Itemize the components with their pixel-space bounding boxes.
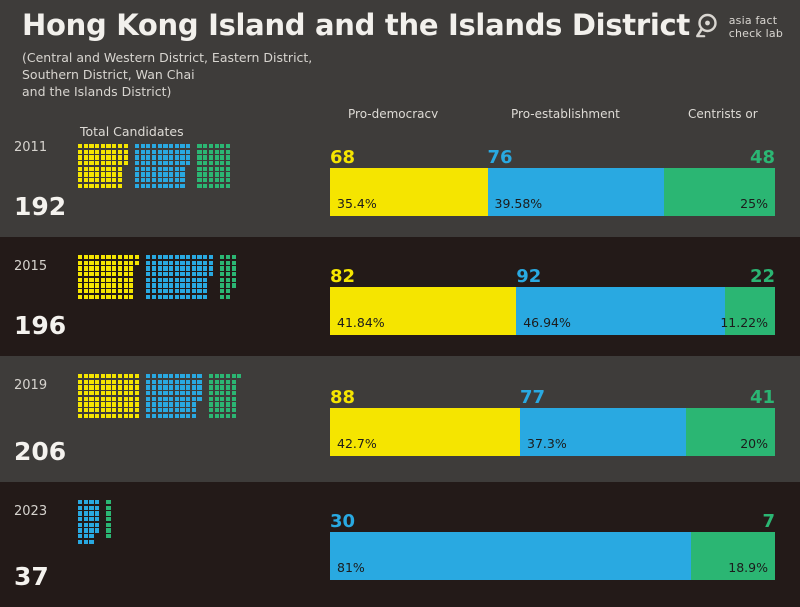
matrix-dot-spacer xyxy=(209,278,213,282)
bar-count-centrists: 41 xyxy=(750,387,775,408)
matrix-dot xyxy=(78,506,82,510)
matrix-dot xyxy=(158,155,162,159)
matrix-dot xyxy=(129,295,133,299)
matrix-dot-spacer xyxy=(186,184,190,188)
dot-matrix xyxy=(78,374,241,418)
matrix-dot xyxy=(169,380,173,384)
matrix-dot xyxy=(152,184,156,188)
matrix-dot-spacer xyxy=(135,283,139,287)
matrix-dot xyxy=(95,289,99,293)
matrix-dot xyxy=(95,266,99,270)
matrix-dot xyxy=(89,511,93,515)
matrix-dot xyxy=(146,172,150,176)
matrix-dot xyxy=(124,155,128,159)
matrix-dot-spacer xyxy=(95,540,99,544)
matrix-dot xyxy=(95,391,99,395)
matrix-dot xyxy=(209,272,213,276)
matrix-dot xyxy=(197,397,201,401)
matrix-dot xyxy=(84,289,88,293)
matrix-dot xyxy=(84,414,88,418)
matrix-dot xyxy=(163,402,167,406)
matrix-dot xyxy=(197,374,201,378)
election-row-2011: 2011192Total Candidates68764835.4%39.58%… xyxy=(0,118,800,237)
bar-value-labels: 307 xyxy=(330,510,775,532)
matrix-dot xyxy=(215,144,219,148)
matrix-dot xyxy=(180,414,184,418)
matrix-dot xyxy=(192,397,196,401)
matrix-dot xyxy=(101,402,105,406)
matrix-dot xyxy=(158,408,162,412)
matrix-dot xyxy=(95,161,99,165)
matrix-dot xyxy=(112,184,116,188)
matrix-dot xyxy=(220,295,224,299)
matrix-dot xyxy=(78,172,82,176)
bar-count-pro_establishment: 92 xyxy=(516,266,541,287)
matrix-dot xyxy=(118,391,122,395)
matrix-dot xyxy=(101,172,105,176)
matrix-dot xyxy=(192,278,196,282)
brand-logo: asia fact check lab xyxy=(696,12,783,42)
matrix-dot xyxy=(78,374,82,378)
matrix-dot xyxy=(78,161,82,165)
matrix-dot xyxy=(226,385,230,389)
matrix-dot xyxy=(89,161,93,165)
matrix-dot xyxy=(197,295,201,299)
bar-segment-centrists[interactable]: 18.9% xyxy=(691,532,775,580)
matrix-dot xyxy=(232,374,236,378)
matrix-dot xyxy=(106,184,110,188)
matrix-dot xyxy=(106,402,110,406)
matrix-dot xyxy=(129,397,133,401)
matrix-dot xyxy=(215,155,219,159)
matrix-dot xyxy=(232,261,236,265)
matrix-dot xyxy=(220,402,224,406)
stacked-bar: 42.7%37.3%20% xyxy=(330,408,775,456)
matrix-dot xyxy=(180,266,184,270)
matrix-dot xyxy=(220,144,224,148)
matrix-dot xyxy=(226,178,230,182)
matrix-dot-spacer xyxy=(135,272,139,276)
matrix-dot-spacer xyxy=(203,402,207,406)
matrix-dot xyxy=(135,184,139,188)
matrix-dot xyxy=(78,278,82,282)
matrix-dot xyxy=(175,380,179,384)
matrix-dot xyxy=(101,261,105,265)
matrix-dot xyxy=(84,380,88,384)
matrix-dot xyxy=(163,380,167,384)
matrix-dot-spacer xyxy=(141,374,145,378)
matrix-dot xyxy=(226,155,230,159)
matrix-dot xyxy=(152,178,156,182)
matrix-dot xyxy=(186,144,190,148)
matrix-dot xyxy=(78,528,82,532)
matrix-dot xyxy=(146,283,150,287)
matrix-dot xyxy=(84,255,88,259)
bar-count-pro_democracy: 82 xyxy=(330,266,355,287)
matrix-dot xyxy=(180,289,184,293)
stacked-bar: 81%18.9% xyxy=(330,532,775,580)
matrix-dot xyxy=(203,161,207,165)
matrix-dot xyxy=(197,161,201,165)
matrix-dot xyxy=(106,414,110,418)
matrix-dot xyxy=(220,278,224,282)
matrix-dot xyxy=(163,178,167,182)
matrix-dot xyxy=(180,283,184,287)
matrix-dot xyxy=(203,272,207,276)
matrix-dot xyxy=(186,161,190,165)
matrix-dot xyxy=(197,172,201,176)
matrix-dot xyxy=(169,261,173,265)
matrix-dot xyxy=(192,408,196,412)
matrix-dot xyxy=(101,184,105,188)
matrix-dot xyxy=(106,167,110,171)
matrix-dot xyxy=(180,155,184,159)
matrix-dot xyxy=(112,255,116,259)
matrix-dot xyxy=(135,155,139,159)
matrix-dot xyxy=(180,255,184,259)
matrix-dot-spacer xyxy=(129,184,133,188)
matrix-dot-spacer xyxy=(192,167,196,171)
bar-segment-pro_democracy[interactable]: 42.7% xyxy=(330,408,520,456)
matrix-dot xyxy=(146,144,150,148)
matrix-dot xyxy=(112,408,116,412)
matrix-dot xyxy=(215,167,219,171)
bar-count-centrists: 7 xyxy=(762,511,775,532)
matrix-dot xyxy=(129,272,133,276)
matrix-dot xyxy=(186,391,190,395)
matrix-dot xyxy=(226,283,230,287)
bar-segment-pro_establishment[interactable]: 81% xyxy=(330,532,691,580)
matrix-dot xyxy=(158,380,162,384)
matrix-dot xyxy=(106,266,110,270)
matrix-dot xyxy=(158,178,162,182)
matrix-dot xyxy=(124,385,128,389)
matrix-dot xyxy=(124,272,128,276)
matrix-dot xyxy=(89,178,93,182)
matrix-dot xyxy=(152,380,156,384)
matrix-dot xyxy=(112,266,116,270)
matrix-dot xyxy=(118,283,122,287)
matrix-dot xyxy=(89,172,93,176)
matrix-dot xyxy=(169,172,173,176)
matrix-dot-spacer xyxy=(192,155,196,159)
bar-count-pro_establishment: 76 xyxy=(488,147,513,168)
matrix-dot xyxy=(226,414,230,418)
bar-percent-pro_establishment: 46.94% xyxy=(523,315,571,330)
matrix-dot xyxy=(101,283,105,287)
matrix-dot-spacer xyxy=(141,402,145,406)
bar-segment-pro_democracy[interactable]: 41.84% xyxy=(330,287,516,335)
matrix-dot xyxy=(78,380,82,384)
matrix-dot xyxy=(95,500,99,504)
matrix-dot xyxy=(89,150,93,154)
matrix-dot xyxy=(84,172,88,176)
matrix-dot xyxy=(169,272,173,276)
matrix-dot xyxy=(101,408,105,412)
matrix-dot xyxy=(186,289,190,293)
matrix-dot xyxy=(141,161,145,165)
matrix-dot xyxy=(89,397,93,401)
matrix-dot xyxy=(106,528,110,532)
matrix-dot xyxy=(232,283,236,287)
matrix-dot xyxy=(112,167,116,171)
matrix-dot xyxy=(78,261,82,265)
matrix-dot xyxy=(84,155,88,159)
matrix-dot xyxy=(209,266,213,270)
matrix-dot xyxy=(169,283,173,287)
matrix-dot xyxy=(89,283,93,287)
dot-matrix xyxy=(78,255,236,299)
matrix-dot-spacer xyxy=(141,255,145,259)
matrix-dot xyxy=(220,266,224,270)
matrix-dot xyxy=(169,289,173,293)
matrix-dot xyxy=(203,167,207,171)
matrix-dot xyxy=(89,278,93,282)
matrix-dot-spacer xyxy=(141,266,145,270)
matrix-dot xyxy=(180,272,184,276)
matrix-dot xyxy=(101,397,105,401)
matrix-dot xyxy=(163,278,167,282)
matrix-dot xyxy=(186,380,190,384)
matrix-dot xyxy=(84,523,88,527)
matrix-dot-spacer xyxy=(192,161,196,165)
matrix-dot-spacer xyxy=(203,391,207,395)
matrix-dot xyxy=(226,167,230,171)
matrix-dot xyxy=(220,172,224,176)
matrix-dot xyxy=(163,289,167,293)
matrix-dot xyxy=(118,278,122,282)
matrix-dot xyxy=(169,374,173,378)
matrix-dot xyxy=(106,255,110,259)
matrix-dot xyxy=(197,289,201,293)
matrix-dot xyxy=(95,385,99,389)
matrix-dot-spacer xyxy=(124,184,128,188)
matrix-dot xyxy=(78,517,82,521)
matrix-dot xyxy=(118,266,122,270)
matrix-dot xyxy=(135,172,139,176)
matrix-dot xyxy=(152,172,156,176)
matrix-dot xyxy=(220,261,224,265)
matrix-dot xyxy=(95,511,99,515)
matrix-dot-spacer xyxy=(135,295,139,299)
matrix-dot xyxy=(209,150,213,154)
matrix-dot xyxy=(89,266,93,270)
matrix-dot xyxy=(118,408,122,412)
matrix-dot xyxy=(158,255,162,259)
matrix-dot xyxy=(95,408,99,412)
matrix-dot xyxy=(209,380,213,384)
matrix-dot xyxy=(175,289,179,293)
matrix-dot xyxy=(175,397,179,401)
matrix-dot-spacer xyxy=(141,261,145,265)
matrix-dot xyxy=(226,150,230,154)
row-year-label: 2015 xyxy=(14,259,47,274)
matrix-dot xyxy=(192,283,196,287)
bar-percent-pro_establishment: 39.58% xyxy=(495,196,543,211)
matrix-dot xyxy=(118,414,122,418)
matrix-dot xyxy=(215,380,219,384)
matrix-dot xyxy=(215,397,219,401)
bar-percent-centrists: 25% xyxy=(740,196,768,211)
matrix-dot xyxy=(163,283,167,287)
matrix-dot xyxy=(163,144,167,148)
bar-segment-pro_establishment[interactable]: 39.58% xyxy=(488,168,664,216)
matrix-dot xyxy=(152,150,156,154)
matrix-dot-spacer xyxy=(141,391,145,395)
matrix-dot xyxy=(124,397,128,401)
matrix-dot xyxy=(84,408,88,412)
matrix-dot xyxy=(106,283,110,287)
matrix-dot xyxy=(84,161,88,165)
matrix-dot xyxy=(197,266,201,270)
matrix-dot xyxy=(175,295,179,299)
matrix-dot xyxy=(163,184,167,188)
matrix-dot xyxy=(135,385,139,389)
bar-segment-pro_establishment[interactable]: 37.3% xyxy=(520,408,686,456)
matrix-dot xyxy=(89,391,93,395)
matrix-dot xyxy=(106,150,110,154)
matrix-dot xyxy=(203,283,207,287)
matrix-dot xyxy=(106,155,110,159)
stacked-bar-block: 68764835.4%39.58%25% xyxy=(330,146,775,216)
matrix-dot xyxy=(146,397,150,401)
bar-segment-pro_democracy[interactable]: 35.4% xyxy=(330,168,488,216)
matrix-dot xyxy=(84,167,88,171)
matrix-dot xyxy=(129,255,133,259)
matrix-dot xyxy=(220,184,224,188)
matrix-dot xyxy=(175,283,179,287)
matrix-dot xyxy=(146,150,150,154)
matrix-dot xyxy=(106,500,110,504)
matrix-dot xyxy=(226,397,230,401)
bar-segment-centrists[interactable]: 25% xyxy=(664,168,775,216)
matrix-dot xyxy=(78,255,82,259)
matrix-dot xyxy=(152,283,156,287)
matrix-dot-spacer xyxy=(215,266,219,270)
matrix-dot xyxy=(203,150,207,154)
matrix-dot xyxy=(89,144,93,148)
matrix-dot xyxy=(135,402,139,406)
matrix-dot xyxy=(89,272,93,276)
matrix-dot xyxy=(89,155,93,159)
matrix-dot xyxy=(101,255,105,259)
matrix-dot xyxy=(106,506,110,510)
bar-percent-pro_establishment: 37.3% xyxy=(527,436,567,451)
matrix-dot xyxy=(146,167,150,171)
matrix-dot xyxy=(175,167,179,171)
matrix-dot xyxy=(169,266,173,270)
bar-count-pro_democracy: 68 xyxy=(330,147,355,168)
matrix-dot xyxy=(129,283,133,287)
matrix-dot xyxy=(95,167,99,171)
matrix-dot xyxy=(209,397,213,401)
matrix-dot-spacer xyxy=(186,167,190,171)
matrix-dot xyxy=(84,266,88,270)
matrix-dot xyxy=(192,391,196,395)
matrix-dot xyxy=(163,397,167,401)
matrix-dot xyxy=(106,261,110,265)
matrix-dot-spacer xyxy=(209,295,213,299)
matrix-dot-spacer xyxy=(141,397,145,401)
matrix-dot xyxy=(226,278,230,282)
page-subtitle: (Central and Western District, Eastern D… xyxy=(22,49,312,100)
matrix-dot-spacer xyxy=(129,144,133,148)
matrix-dot xyxy=(101,161,105,165)
matrix-dot xyxy=(175,402,179,406)
matrix-dot xyxy=(95,295,99,299)
matrix-dot xyxy=(118,397,122,401)
bar-segment-pro_establishment[interactable]: 46.94% xyxy=(516,287,725,335)
matrix-dot xyxy=(180,261,184,265)
matrix-dot-spacer xyxy=(197,402,201,406)
matrix-dot xyxy=(197,283,201,287)
matrix-dot xyxy=(163,408,167,412)
bar-value-labels: 687648 xyxy=(330,146,775,168)
matrix-dot xyxy=(220,167,224,171)
matrix-dot xyxy=(152,295,156,299)
matrix-dot xyxy=(209,184,213,188)
matrix-dot xyxy=(180,391,184,395)
matrix-dot xyxy=(84,506,88,510)
matrix-dot xyxy=(135,255,139,259)
matrix-dot xyxy=(169,414,173,418)
matrix-dot xyxy=(220,155,224,159)
matrix-dot-spacer xyxy=(101,540,105,544)
matrix-dot-spacer xyxy=(124,172,128,176)
matrix-dot xyxy=(226,380,230,384)
matrix-dot xyxy=(146,278,150,282)
matrix-dot xyxy=(175,184,179,188)
page-title: Hong Kong Island and the Islands Distric… xyxy=(22,8,690,42)
matrix-dot xyxy=(106,391,110,395)
bar-segment-centrists[interactable]: 11.22% xyxy=(725,287,775,335)
matrix-dot xyxy=(78,155,82,159)
matrix-dot xyxy=(186,272,190,276)
matrix-dot xyxy=(215,385,219,389)
matrix-dot-spacer xyxy=(101,511,105,515)
matrix-dot xyxy=(89,506,93,510)
matrix-dot xyxy=(232,402,236,406)
election-row-2019: 201920688774142.7%37.3%20% xyxy=(0,356,800,482)
matrix-dot xyxy=(84,534,88,538)
matrix-dot xyxy=(95,374,99,378)
matrix-dot xyxy=(129,385,133,389)
matrix-dot xyxy=(78,178,82,182)
matrix-dot xyxy=(112,178,116,182)
bar-segment-centrists[interactable]: 20% xyxy=(686,408,775,456)
matrix-dot xyxy=(129,374,133,378)
matrix-dot xyxy=(95,528,99,532)
matrix-dot xyxy=(169,295,173,299)
matrix-dot-spacer xyxy=(129,155,133,159)
matrix-dot xyxy=(112,272,116,276)
matrix-dot xyxy=(158,278,162,282)
matrix-dot xyxy=(180,184,184,188)
matrix-dot xyxy=(175,172,179,176)
matrix-dot xyxy=(226,184,230,188)
matrix-dot xyxy=(118,161,122,165)
matrix-dot xyxy=(89,167,93,171)
matrix-dot xyxy=(158,272,162,276)
matrix-dot xyxy=(95,414,99,418)
matrix-dot xyxy=(146,374,150,378)
matrix-dot xyxy=(175,161,179,165)
matrix-dot xyxy=(101,391,105,395)
matrix-dot-spacer xyxy=(141,278,145,282)
bar-percent-centrists: 20% xyxy=(740,436,768,451)
matrix-dot xyxy=(175,278,179,282)
bar-count-pro_establishment: 77 xyxy=(520,387,545,408)
